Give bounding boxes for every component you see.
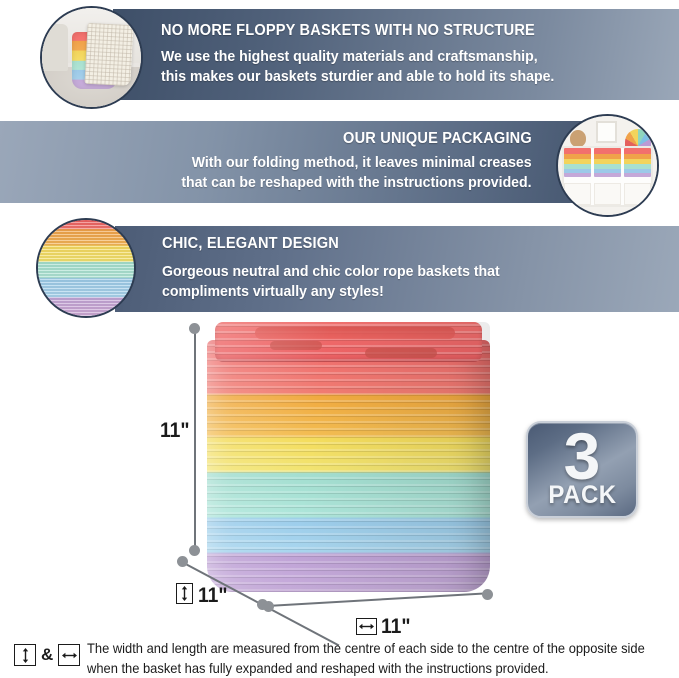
- vertical-arrow-glyph: [180, 586, 189, 601]
- photo-shelf-cube: [594, 183, 621, 205]
- width-dimension-dot-right: [482, 589, 493, 600]
- horizontal-arrow-icon: [58, 644, 80, 666]
- photo-basket-row: [562, 146, 653, 180]
- depth-dimension-dot-near: [177, 556, 188, 567]
- feature-banner-unique-packaging: OUR UNIQUE PACKAGING With our folding me…: [0, 121, 600, 203]
- measurement-disclaimer: & The width and length are measured from…: [14, 639, 666, 678]
- vertical-arrow-icon: [176, 583, 193, 604]
- product-photo-shelf-with-baskets: [556, 114, 659, 217]
- photo-rainbow-basket: [624, 148, 651, 178]
- badge-count: 3: [564, 431, 601, 482]
- feature-body-line-2: this makes our baskets sturdier and able…: [161, 67, 648, 87]
- photo-scene: [558, 116, 657, 215]
- badge-unit: PACK: [548, 483, 616, 508]
- height-dimension-line: [194, 328, 196, 550]
- basket-body: [207, 340, 490, 592]
- photo-shelf-cube: [564, 183, 591, 205]
- feature-banner-chic-elegant-design: CHIC, ELEGANT DESIGN Gorgeous neutral an…: [115, 226, 679, 312]
- disclaimer-separator: &: [41, 645, 53, 665]
- feature-body-line-2: compliments virtually any styles!: [162, 282, 648, 302]
- feature-headline: NO MORE FLOPPY BASKETS WITH NO STRUCTURE: [161, 22, 648, 40]
- photo-rainbow-basket: [594, 148, 621, 178]
- basket-handle-right: [365, 348, 437, 358]
- height-dimension-dot-top: [189, 323, 200, 334]
- feature-banner-no-floppy-baskets: NO MORE FLOPPY BASKETS WITH NO STRUCTURE…: [113, 9, 679, 100]
- width-dimension-line: [267, 592, 489, 607]
- feature-headline: CHIC, ELEGANT DESIGN: [162, 235, 648, 253]
- photo-sofa: [40, 24, 68, 72]
- depth-dimension-label: 11": [198, 584, 228, 608]
- photo-waffle-blanket: [84, 23, 133, 87]
- disclaimer-icons: &: [14, 639, 80, 666]
- height-dimension-label: 11": [160, 419, 190, 443]
- feature-body-line-1: Gorgeous neutral and chic color rope bas…: [162, 262, 648, 282]
- basket-handle-left: [270, 341, 322, 350]
- photo-teddy-bear: [570, 130, 586, 147]
- vertical-arrow-glyph: [21, 648, 30, 663]
- photo-shelf-cube: [624, 183, 651, 205]
- disclaimer-line-2: when the basket has fully expanded and r…: [87, 659, 645, 678]
- width-dimension-dot-left: [263, 601, 274, 612]
- width-dimension-label: 11": [381, 615, 411, 639]
- basket-inner-opening: [255, 327, 455, 339]
- product-basket-illustration: [207, 322, 490, 592]
- photo-rope-weave: [38, 220, 134, 316]
- photo-rainbow-basket: [564, 148, 591, 178]
- feature-body-line-2: that can be reshaped with the instructio…: [182, 173, 532, 193]
- vertical-arrow-icon: [14, 644, 36, 666]
- horizontal-arrow-glyph: [62, 651, 77, 660]
- photo-rainbow-toy: [625, 129, 651, 146]
- horizontal-arrow-glyph: [359, 622, 374, 631]
- product-photo-rope-texture-closeup: [36, 218, 136, 318]
- feature-body-line-1: With our folding method, it leaves minim…: [192, 153, 532, 173]
- photo-lower-shelf-row: [562, 181, 653, 207]
- horizontal-arrow-icon: [356, 618, 377, 635]
- feature-body-line-1: We use the highest quality materials and…: [161, 47, 648, 67]
- disclaimer-line-1: The width and length are measured from t…: [87, 639, 645, 659]
- basket-rim: [215, 322, 482, 362]
- product-photo-basket-with-blanket: [40, 6, 143, 109]
- photo-scene: [42, 8, 141, 107]
- feature-headline: OUR UNIQUE PACKAGING: [343, 130, 532, 148]
- height-dimension-dot-bottom: [189, 545, 200, 556]
- three-pack-badge: 3 PACK: [526, 421, 638, 518]
- photo-wall-frame: [596, 121, 618, 143]
